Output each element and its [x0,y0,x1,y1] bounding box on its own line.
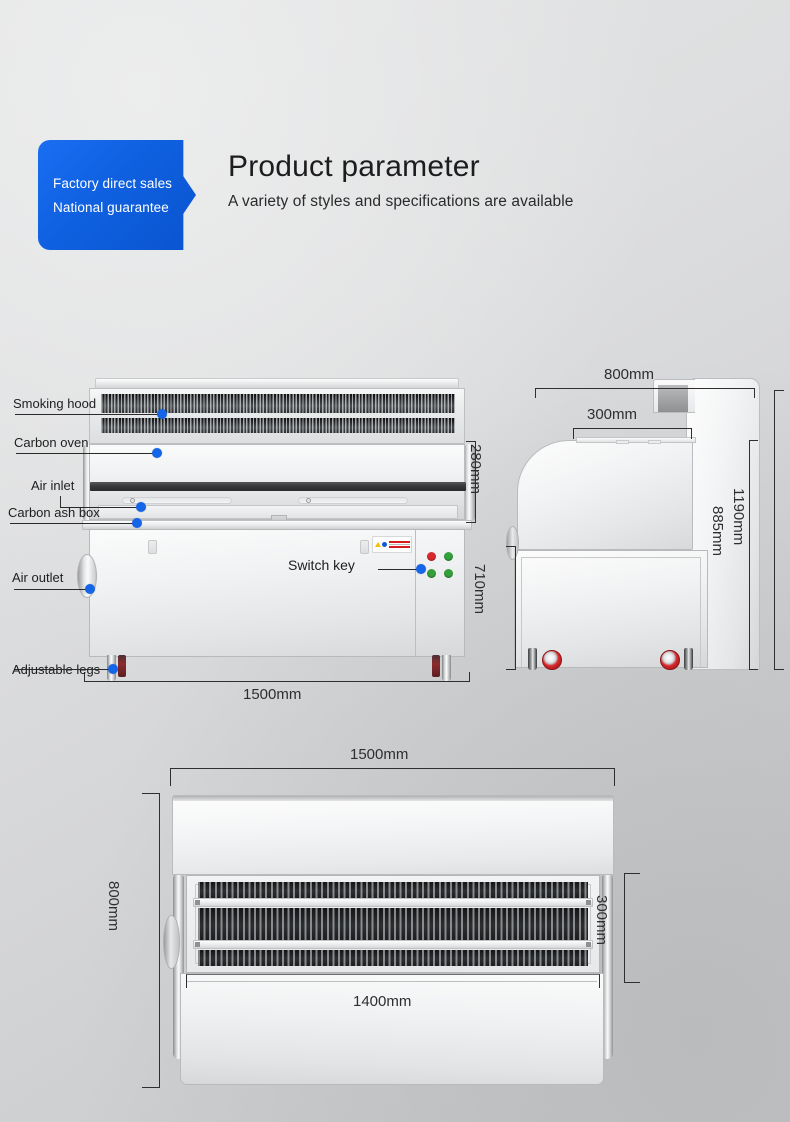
callout-dot-adjustable-legs [108,664,118,674]
air-inlet-vent-left [130,498,135,503]
control-panel[interactable] [416,530,464,656]
page-subtitle: A variety of styles and specifications a… [228,193,574,211]
grill-row-bottom [198,950,588,966]
smoking-hood [89,388,465,444]
oven-handle-bar [90,482,466,491]
dim-label-front-width: 1500mm [243,686,301,703]
callout-label-smoking-hood: Smoking hood [13,396,96,411]
dim-bracket-side-depth [535,388,755,398]
dim-bracket-inner-depth [573,428,692,439]
top-hood-front-edge [173,796,613,801]
indicator-green-1[interactable] [444,552,453,561]
dim-label-top-width: 1500mm [350,746,408,763]
dim-bracket-cabinet-height [506,546,516,670]
cabinet-lock-right [360,540,369,554]
top-view-diagram: 1500mm 800mm 300mm 1400mm [168,795,618,1090]
grill-row-middle [198,908,588,940]
callout-line-carbon-ash-box [10,523,136,524]
air-inlet-vent-right [306,498,311,503]
dim-bracket-grill-depth [624,873,640,983]
dim-label-inner-depth: 300mm [587,406,637,423]
grill-rail-upper [193,898,593,907]
dim-label-total-height: 1190mm [730,488,747,545]
grill-row-top [198,882,588,898]
callout-line-adjustable-legs [14,669,112,670]
side-oven-tab-right [648,440,661,444]
hood-grille-lower [101,418,455,433]
side-carbon-oven [517,440,693,550]
dim-label-top-depth: 800mm [105,881,122,931]
side-oven-tab-left [616,440,629,444]
hood-grille-upper [101,394,455,413]
callout-dot-air-inlet [136,502,146,512]
callout-dot-carbon-oven [152,448,162,458]
dim-label-inner-width: 1400mm [353,993,411,1010]
callout-line-carbon-oven [16,453,156,454]
promo-badge: Factory direct sales National guarantee [38,140,196,250]
front-view-diagram: 280mm 1500mm Smoking hood Carbon oven Ai… [88,378,470,678]
page-header: Factory direct sales National guarantee … [38,140,678,252]
callout-dot-smoking-hood [157,409,167,419]
dim-bracket-body-height [749,440,758,670]
dim-bracket-inner-width [186,974,600,988]
dim-bracket-top-width [170,768,615,786]
grill-frame [186,875,600,973]
top-hood-panel [172,795,614,875]
promo-badge-line-1: Factory direct sales [53,176,196,191]
page-title: Product parameter [228,150,574,185]
power-indicator-red[interactable] [427,552,436,561]
indicator-green-2[interactable] [427,569,436,578]
dim-label-body-height: 885mm [709,506,726,556]
air-inlet-slot-right [298,497,408,504]
side-caster-right [660,650,680,670]
side-leg-left [528,648,537,670]
dim-bracket-front-width [84,672,470,682]
info-circle-icon [382,542,387,547]
dim-bracket-total-height [774,390,784,670]
side-leg-right [684,648,693,670]
cabinet-body [89,529,465,657]
callout-label-switch-key: Switch key [288,557,355,573]
callout-dot-carbon-ash-box [132,518,142,528]
side-caster-left [542,650,562,670]
promo-badge-line-2: National guarantee [53,200,196,215]
dim-label-grill-depth: 300mm [593,895,610,945]
dim-label-cabinet-height: 710mm [471,564,488,614]
callout-dot-air-outlet [85,584,95,594]
callout-line-air-outlet [14,589,90,590]
side-cabinet-body [514,550,708,668]
dim-bracket-top-depth [142,793,160,1088]
top-front-panel [180,973,604,1085]
warning-triangle-icon [375,542,381,547]
callout-label-air-outlet: Air outlet [12,570,63,585]
sticker-text-bars [389,541,410,548]
callout-label-carbon-ash-box: Carbon ash box [8,505,100,520]
callout-line-switch-key [378,569,420,570]
grill-rail-lower [193,940,593,949]
callout-label-air-inlet: Air inlet [31,478,74,493]
header-titles: Product parameter A variety of styles an… [228,150,574,211]
top-air-outlet-port [163,915,180,969]
callout-dot-switch-key [416,564,426,574]
callout-label-carbon-oven: Carbon oven [14,435,88,450]
dim-label-oven-height: 280mm [467,444,484,494]
product-parameter-page: Factory direct sales National guarantee … [0,0,790,1122]
callout-line-smoking-hood [15,414,161,415]
side-view-diagram: 800mm 300mm 1190mm 885mm 710mm [512,378,760,678]
indicator-green-3[interactable] [444,569,453,578]
dim-label-side-depth: 800mm [604,366,654,383]
warning-label-sticker [372,536,412,553]
cabinet-lock-left [148,540,157,554]
